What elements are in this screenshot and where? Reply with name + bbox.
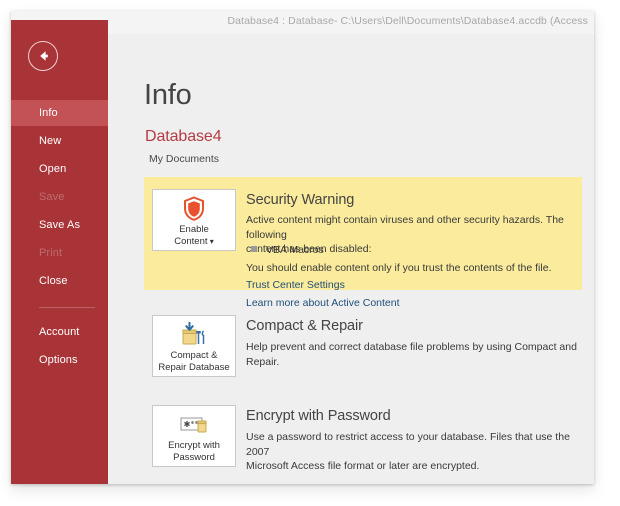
sidebar-item-label: Info [39,107,58,119]
trust-center-settings-link[interactable]: Trust Center Settings [246,279,345,291]
sidebar-item-print: Print [11,240,108,266]
disabled-content-item-label: VBA Macros [266,244,324,256]
sidebar-item-options[interactable]: Options [11,347,108,373]
sidebar-item-label: Options [39,354,78,366]
sidebar-item-save: Save [11,184,108,210]
page-title: Info [144,79,192,112]
database-name: Database4 [145,128,222,146]
security-warning-body-line3: You should enable content only if you tr… [246,261,551,276]
compact-repair-label: Compact & Repair Database [153,350,235,373]
compact-repair-body: Help prevent and correct database file p… [246,340,586,369]
sidebar-item-account[interactable]: Account [11,319,108,345]
enable-content-label: Enable Content ▾ [153,224,235,247]
chevron-down-icon: ▾ [210,237,214,246]
enable-content-button[interactable]: Enable Content ▾ [152,189,236,251]
learn-more-active-content-link[interactable]: Learn more about Active Content [246,297,400,309]
sidebar-item-label: Print [39,247,62,259]
database-location: My Documents [149,153,219,165]
access-backstage-window: Database4 : Database- C:\Users\Dell\Docu… [11,11,594,484]
backstage-sidebar: Info New Open Save Save As Print Close A… [11,20,108,484]
sidebar-item-save-as[interactable]: Save As [11,212,108,238]
sidebar-item-label: Save As [39,219,80,231]
encrypt-password-label: Encrypt with Password [153,440,235,463]
sidebar-item-close[interactable]: Close [11,268,108,294]
compact-repair-heading: Compact & Repair [246,318,363,334]
sidebar-divider [39,307,95,308]
compact-repair-button[interactable]: Compact & Repair Database [152,315,236,377]
back-button[interactable] [28,41,58,71]
back-arrow-icon [34,47,52,65]
security-warning-body-line1: Active content might contain viruses and… [246,214,564,241]
sidebar-item-label: Close [39,275,68,287]
bullet-square-icon [251,246,257,252]
disabled-content-item: VBA Macros [251,243,324,258]
shield-icon [153,196,235,222]
sidebar-item-label: Open [39,163,66,175]
security-warning-heading: Security Warning [246,192,354,208]
sidebar-item-open[interactable]: Open [11,156,108,182]
compact-repair-label-line1: Compact & [171,350,218,361]
encrypt-password-label-line1: Encrypt with [168,440,220,451]
compact-repair-icon [153,322,235,348]
encrypt-password-body-line1: Use a password to restrict access to you… [246,431,570,458]
sidebar-item-label: Save [39,191,64,203]
enable-content-label-line1: Enable [179,224,209,235]
sidebar-item-info[interactable]: Info [11,100,108,126]
encrypt-password-button[interactable]: Encrypt with Password [152,405,236,467]
compact-repair-label-line2: Repair Database [158,362,229,373]
sidebar-item-label: Account [39,326,79,338]
encrypt-password-icon [153,412,235,438]
encrypt-password-body-line2: Microsoft Access file format or later ar… [246,460,479,472]
window-title: Database4 : Database- C:\Users\Dell\Docu… [227,15,588,27]
sidebar-item-new[interactable]: New [11,128,108,154]
encrypt-password-label-line2: Password [173,452,215,463]
encrypt-password-heading: Encrypt with Password [246,408,391,424]
enable-content-label-line2: Content [174,236,207,247]
sidebar-item-label: New [39,135,61,147]
info-pane: Info Database4 My Documents Enable Conte… [108,34,594,484]
encrypt-password-body: Use a password to restrict access to you… [246,430,586,474]
